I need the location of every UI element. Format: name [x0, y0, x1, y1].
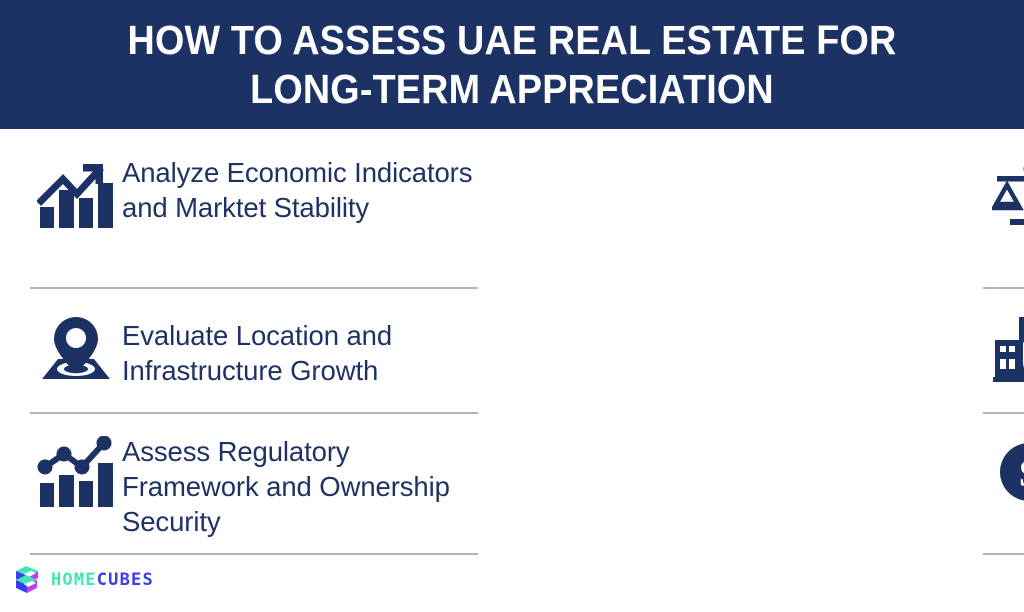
bar-chart-line-dots-icon: [30, 434, 122, 510]
header-banner: HOW TO ASSESS UAE REAL ESTATE FOR LONG-T…: [0, 0, 1024, 129]
balance-scale-icon: [983, 159, 1024, 231]
buildings-shield-check-icon: [983, 307, 1024, 383]
footer: HOMECUBES: [0, 555, 1024, 612]
brand-logo-text: HOMECUBES: [51, 572, 154, 589]
list-item-label: Assess Regulatory Framework and Ownershi…: [122, 434, 478, 540]
brand-logo-text-cubes: CUBES: [97, 570, 154, 590]
brand-logo-text-home: HOME: [51, 570, 97, 590]
list-item-label: Analyze Economic Indicators and Marktet …: [122, 155, 478, 226]
list-item[interactable]: Understand Supply and Demand Dynamics: [983, 129, 1024, 289]
list-item[interactable]: Consider Property Type, Developer, and B…: [983, 289, 1024, 414]
list-item[interactable]: Assess Regulatory Framework and Ownershi…: [30, 414, 478, 555]
dollar-circle-icon: $: [983, 428, 1024, 502]
isometric-cube-logo-icon: [12, 563, 44, 597]
map-pin-location-icon: [30, 307, 122, 383]
items-column-left: Analyze Economic Indicators and Marktet …: [0, 129, 478, 555]
page-title: HOW TO ASSESS UAE REAL ESTATE FOR LONG-T…: [107, 16, 917, 114]
brand-logo[interactable]: HOMECUBES: [12, 563, 154, 597]
svg-text:$: $: [1020, 453, 1024, 495]
items-column-right: Understand Supply and Demand Dynamics: [478, 129, 1024, 555]
list-item[interactable]: $ Measure Rental Yields and Income Poten…: [983, 414, 1024, 555]
list-item[interactable]: Analyze Economic Indicators and Marktet …: [30, 129, 478, 289]
items-grid: Analyze Economic Indicators and Marktet …: [0, 129, 1024, 555]
bar-chart-growth-arrow-icon: [30, 155, 122, 231]
list-item-label: Evaluate Location and Infrastructure Gro…: [122, 307, 478, 389]
infographic-page: HOW TO ASSESS UAE REAL ESTATE FOR LONG-T…: [0, 0, 1024, 612]
list-item[interactable]: Evaluate Location and Infrastructure Gro…: [30, 289, 478, 414]
